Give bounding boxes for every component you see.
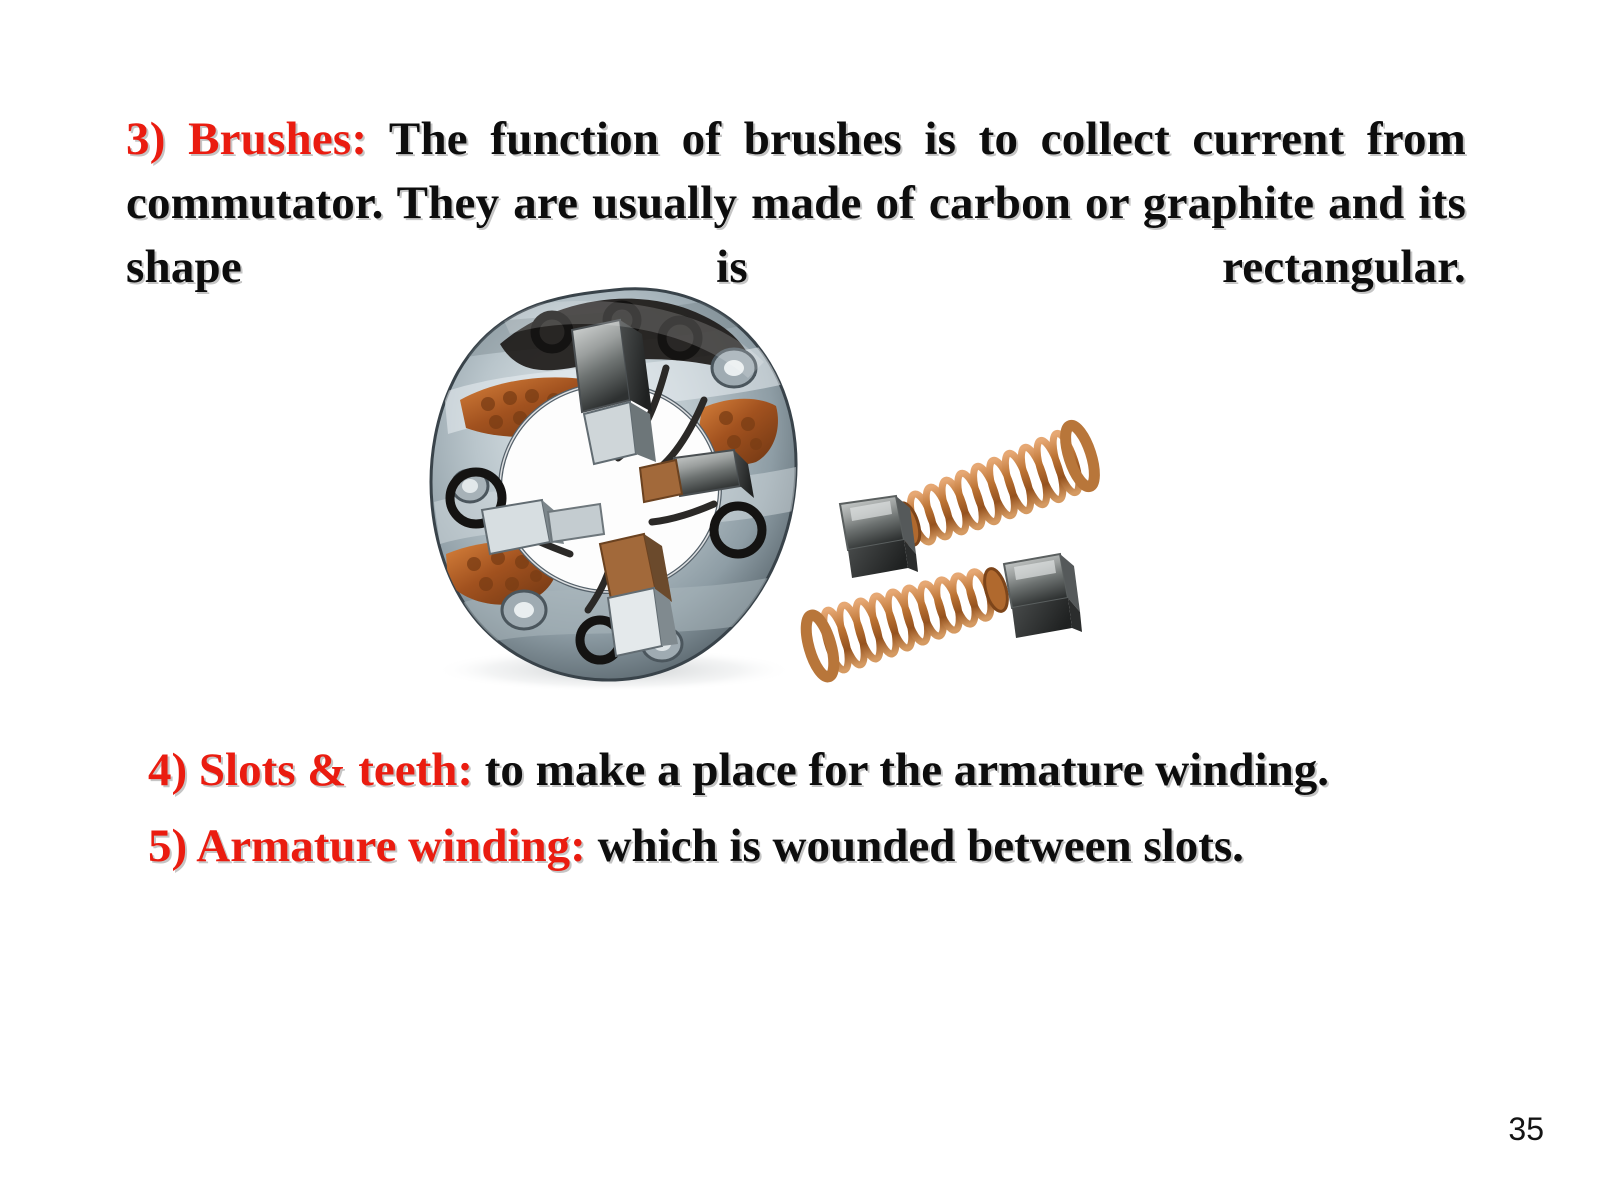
carbon-brush-upper: [840, 422, 1100, 578]
spring-upper: [906, 431, 1084, 545]
slide-canvas: 3) Brushes: The function of brushes is t…: [0, 0, 1600, 1200]
carbon-brush-lower: [801, 554, 1082, 680]
brush-assembly-figure: [404, 272, 1104, 690]
bullet-slots-and-teeth: 4) Slots & teeth: to make a place for th…: [148, 742, 1478, 798]
carbon-brush-upper-block: [840, 496, 918, 578]
spring-lower-end-coil: [801, 612, 840, 680]
brush-assembly-illustration: [404, 272, 1104, 690]
bullet-armature-winding: 5) Armature winding: which is wounded be…: [148, 818, 1478, 874]
bullet-armature-winding-lead: 5) Armature winding:: [148, 820, 586, 872]
page-number: 35: [1508, 1111, 1544, 1148]
bullet-armature-winding-body: which is wounded between slots.: [586, 820, 1244, 872]
paragraph-brushes-lead: 3) Brushes:: [126, 113, 367, 165]
bullet-slots-and-teeth-lead: 4) Slots & teeth:: [148, 744, 473, 796]
brush-holder-plate: [420, 289, 798, 680]
carbon-brush-lower-block: [1004, 554, 1082, 638]
bullet-slots-and-teeth-body: to make a place for the armature winding…: [473, 744, 1329, 796]
spring-lower: [819, 569, 995, 672]
